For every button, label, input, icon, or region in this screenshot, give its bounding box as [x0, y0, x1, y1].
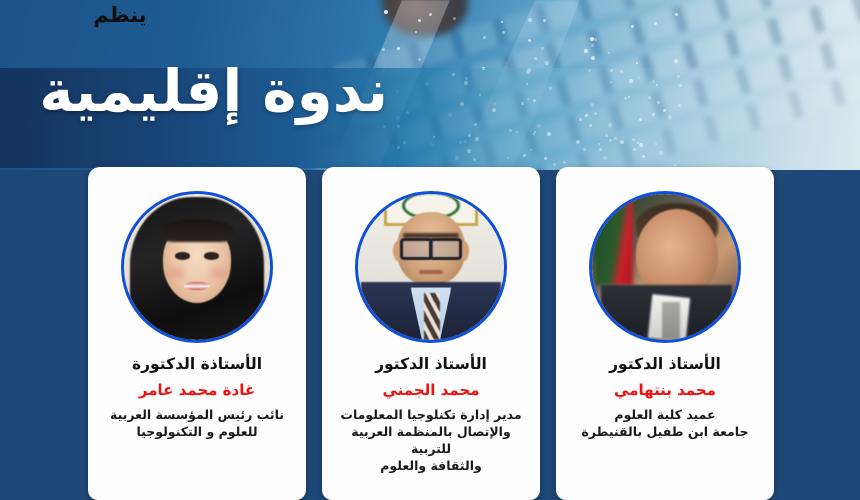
speaker-name: محمد بنتهامي [564, 381, 766, 400]
avatar [589, 191, 741, 343]
portrait-image [358, 194, 504, 340]
speaker-card[interactable]: الأستاذ الدكتور محمد بنتهامي عميد كلية ا… [556, 167, 774, 500]
speaker-info: الأستاذ الدكتور محمد الجمني مدير إدارة ت… [322, 355, 540, 475]
role-line: والثقافة والعلوم [330, 458, 532, 475]
role-line: مدير إدارة تكنلوجيا المعلومات [330, 407, 532, 424]
portrait-image [124, 194, 270, 340]
speaker-honorific: الأستاذ الدكتور [564, 355, 766, 374]
speaker-honorific: الأستاذ الدكتور [330, 355, 532, 374]
speaker-info: الأستاذ الدكتور محمد بنتهامي عميد كلية ا… [556, 355, 774, 441]
speaker-name: غادة محمد عامر [96, 381, 298, 400]
speaker-role: مدير إدارة تكنلوجيا المعلومات والإتصال ب… [330, 407, 532, 475]
seminar-poster: ينظم ندوة إقليمية الأستاذ الدكتور محمد ب… [0, 0, 860, 500]
role-line: للعلوم و التكنولوجيا [96, 424, 298, 441]
speaker-card[interactable]: الأستاذ الدكتور محمد الجمني مدير إدارة ت… [322, 167, 540, 500]
role-line: نائب رئيس المؤسسة العربية [96, 407, 298, 424]
speaker-role: نائب رئيس المؤسسة العربية للعلوم و التكن… [96, 407, 298, 441]
role-line: والإتصال بالمنظمة العربية للتربية [330, 424, 532, 458]
organizer-label: ينظم [0, 3, 240, 27]
speaker-honorific: الأستاذة الدكتورة [96, 355, 298, 374]
role-line: عميد كلية العلوم [564, 407, 766, 424]
speaker-info: الأستاذة الدكتورة غادة محمد عامر نائب رئ… [88, 355, 306, 441]
role-line: جامعة ابن طفيل بالقنيطرة [564, 424, 766, 441]
speaker-card[interactable]: الأستاذة الدكتورة غادة محمد عامر نائب رئ… [88, 167, 306, 500]
page-title: ندوة إقليمية [0, 62, 400, 120]
portrait-image [592, 194, 738, 340]
avatar [121, 191, 273, 343]
speaker-role: عميد كلية العلوم جامعة ابن طفيل بالقنيطر… [564, 407, 766, 441]
speakers-row: الأستاذ الدكتور محمد بنتهامي عميد كلية ا… [86, 167, 774, 500]
avatar [355, 191, 507, 343]
speaker-name: محمد الجمني [330, 381, 532, 400]
